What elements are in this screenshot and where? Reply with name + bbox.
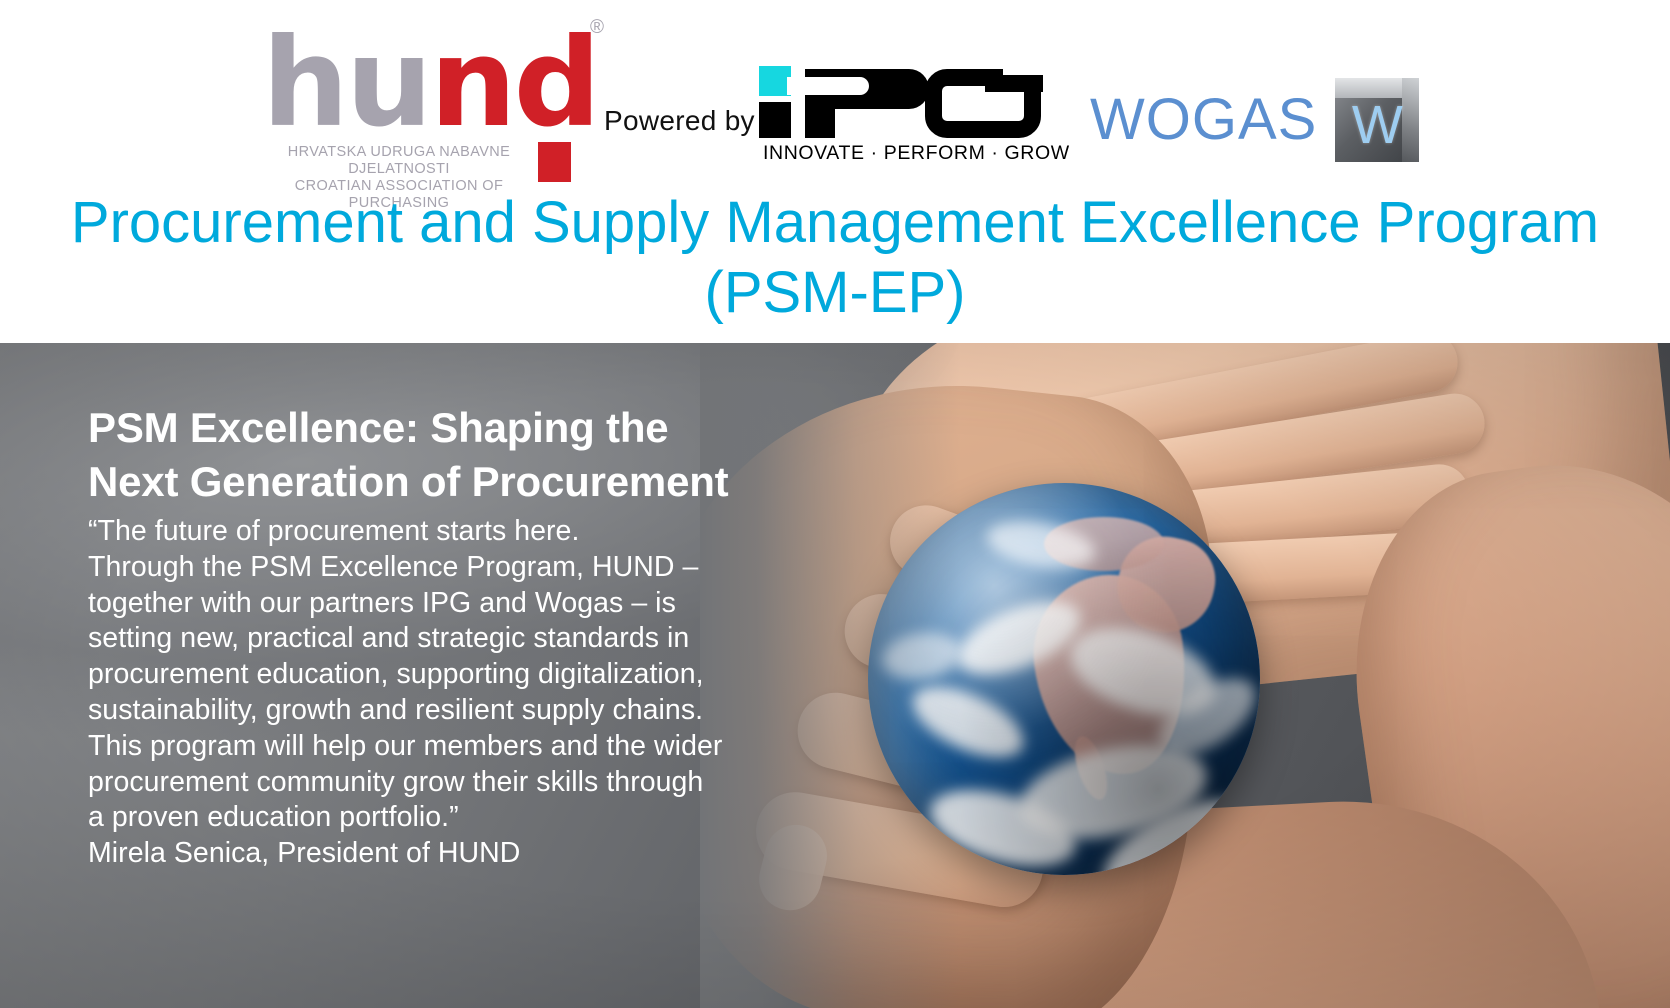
ipg-i-stem-icon bbox=[759, 102, 791, 138]
hero-attribution: Mirela Senica, President of HUND bbox=[88, 836, 758, 872]
hero-banner: PSM Excellence: Shaping the Next Generat… bbox=[0, 343, 1670, 1008]
hund-subtitle-line-hr: HRVATSKA UDRUGA NABAVNE DJELATNOSTI bbox=[263, 144, 535, 178]
ipg-letter-p-counter bbox=[787, 77, 869, 95]
hund-wordmark: hund® bbox=[262, 14, 582, 132]
ipg-wordmark-graphic bbox=[757, 66, 1042, 138]
hund-logo[interactable]: hund® HRVATSKA UDRUGA NABAVNE DJELATNOST… bbox=[262, 14, 582, 182]
ipg-logo[interactable]: INNOVATE · PERFORM · GROW bbox=[757, 66, 1042, 166]
wogas-wordmark: WOGAS bbox=[1090, 91, 1317, 149]
hero-quote: “The future of procurement starts here. … bbox=[88, 514, 758, 836]
logo-row: hund® HRVATSKA UDRUGA NABAVNE DJELATNOST… bbox=[0, 0, 1670, 190]
poster-root: hund® HRVATSKA UDRUGA NABAVNE DJELATNOST… bbox=[0, 0, 1670, 1008]
ipg-letter-g-bar bbox=[985, 75, 1043, 92]
wogas-cube-icon: W bbox=[1335, 78, 1419, 162]
registered-trademark-icon: ® bbox=[590, 18, 604, 37]
powered-by-label: Powered by bbox=[604, 105, 755, 137]
ipg-tagline: INNOVATE · PERFORM · GROW bbox=[763, 142, 1070, 165]
wogas-cube-letter: W bbox=[1335, 90, 1419, 160]
header-band: hund® HRVATSKA UDRUGA NABAVNE DJELATNOST… bbox=[0, 0, 1670, 343]
wogas-logo[interactable]: WOGAS W bbox=[1090, 70, 1419, 170]
hund-red-square-icon bbox=[538, 142, 571, 182]
hund-wordmark-red: nd bbox=[430, 12, 598, 154]
hund-wordmark-gray: hu bbox=[262, 12, 430, 154]
hero-text-block: PSM Excellence: Shaping the Next Generat… bbox=[88, 401, 758, 872]
hero-headline: PSM Excellence: Shaping the Next Generat… bbox=[88, 401, 738, 509]
page-title: Procurement and Supply Management Excell… bbox=[0, 188, 1670, 328]
